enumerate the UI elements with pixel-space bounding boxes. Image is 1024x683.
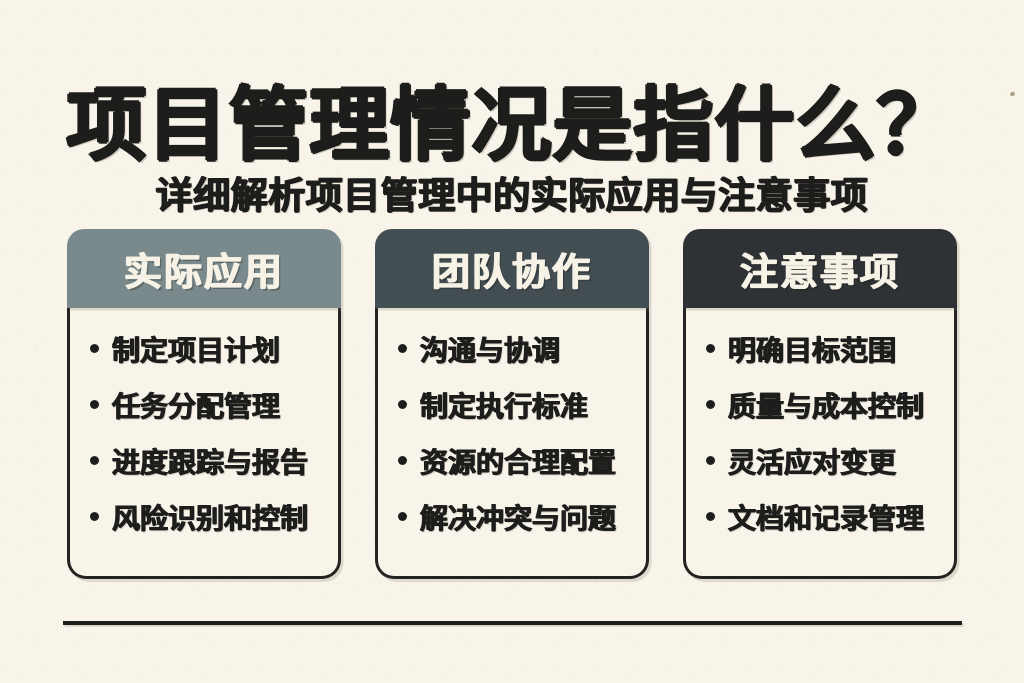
card-header: 实际应用 — [67, 229, 341, 308]
card-body: 制定项目计划 任务分配管理 进度跟踪与报告 风险识别和控制 — [67, 308, 341, 579]
list-item: 制定项目计划 — [90, 332, 328, 370]
list-item-label: 明确目标范围 — [728, 332, 896, 370]
list-item-label: 灵活应对变更 — [728, 444, 896, 482]
list-item: 风险识别和控制 — [90, 500, 328, 538]
list-item: 资源的合理配置 — [398, 444, 636, 482]
card-zhu-yi-shi-xiang: 注意事项 明确目标范围 质量与成本控制 灵活应对变更 — [683, 229, 957, 579]
bullet-dot-icon — [90, 512, 99, 521]
list-item: 解决冲突与问题 — [398, 500, 636, 538]
card-body: 明确目标范围 质量与成本控制 灵活应对变更 文档和记录管理 — [683, 308, 957, 579]
infographic-page: 项目管理情况是指什么？ 详细解析项目管理中的实际应用与注意事项 实际应用 制定项… — [0, 0, 1024, 683]
list-item-label: 质量与成本控制 — [728, 388, 924, 426]
bullet-dot-icon — [706, 344, 715, 353]
list-item-label: 风险识别和控制 — [112, 500, 308, 538]
list-item-label: 任务分配管理 — [112, 388, 280, 426]
page-subtitle: 详细解析项目管理中的实际应用与注意事项 — [0, 171, 1024, 221]
card-title: 实际应用 — [124, 241, 284, 296]
bullet-dot-icon — [706, 512, 715, 521]
card-shi-ji-ying-yong: 实际应用 制定项目计划 任务分配管理 进度跟踪与报告 — [67, 229, 341, 579]
list-item-label: 制定执行标准 — [420, 388, 588, 426]
list-item: 任务分配管理 — [90, 388, 328, 426]
list-item-label: 解决冲突与问题 — [420, 500, 616, 538]
footer-divider — [63, 621, 962, 625]
card-header: 团队协作 — [375, 229, 649, 308]
bullet-dot-icon — [398, 456, 407, 465]
list-item: 沟通与协调 — [398, 332, 636, 370]
bullet-list: 明确目标范围 质量与成本控制 灵活应对变更 文档和记录管理 — [686, 332, 954, 538]
list-item-label: 进度跟踪与报告 — [112, 444, 308, 482]
bullet-dot-icon — [398, 344, 407, 353]
list-item: 明确目标范围 — [706, 332, 944, 370]
list-item-label: 沟通与协调 — [420, 332, 560, 370]
card-title: 团队协作 — [432, 241, 592, 296]
card-header: 注意事项 — [683, 229, 957, 308]
bullet-dot-icon — [706, 400, 715, 409]
card-grid: 实际应用 制定项目计划 任务分配管理 进度跟踪与报告 — [67, 229, 957, 579]
list-item: 文档和记录管理 — [706, 500, 944, 538]
bullet-dot-icon — [706, 456, 715, 465]
list-item-label: 资源的合理配置 — [420, 444, 616, 482]
bullet-dot-icon — [90, 400, 99, 409]
list-item: 进度跟踪与报告 — [90, 444, 328, 482]
list-item-label: 文档和记录管理 — [728, 500, 924, 538]
page-title: 项目管理情况是指什么？ — [0, 78, 1024, 174]
card-body: 沟通与协调 制定执行标准 资源的合理配置 解决冲突与问题 — [375, 308, 649, 579]
card-tuan-dui-xie-zuo: 团队协作 沟通与协调 制定执行标准 资源的合理配置 — [375, 229, 649, 579]
bullet-list: 制定项目计划 任务分配管理 进度跟踪与报告 风险识别和控制 — [70, 332, 338, 538]
list-item: 制定执行标准 — [398, 388, 636, 426]
list-item: 灵活应对变更 — [706, 444, 944, 482]
bullet-dot-icon — [398, 400, 407, 409]
card-title: 注意事项 — [740, 241, 900, 296]
bullet-dot-icon — [90, 344, 99, 353]
list-item-label: 制定项目计划 — [112, 332, 280, 370]
bullet-dot-icon — [90, 456, 99, 465]
bullet-list: 沟通与协调 制定执行标准 资源的合理配置 解决冲突与问题 — [378, 332, 646, 538]
bullet-dot-icon — [398, 512, 407, 521]
list-item: 质量与成本控制 — [706, 388, 944, 426]
